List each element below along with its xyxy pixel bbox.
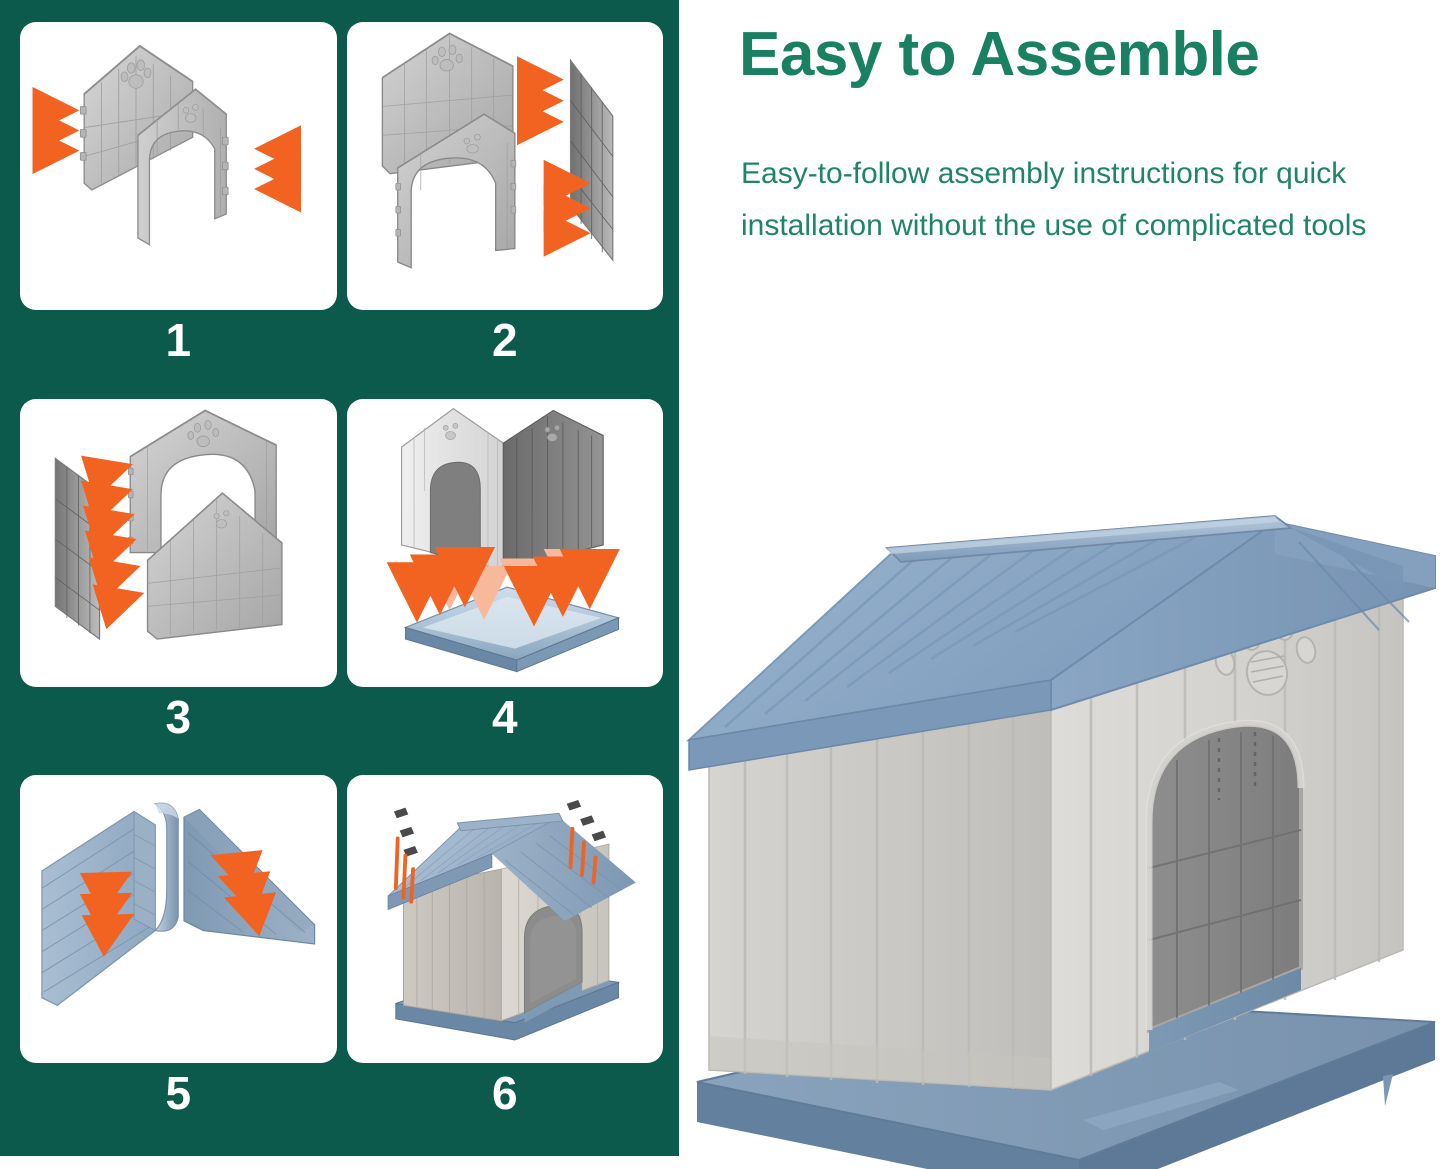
two-wall-panels-joining-icon <box>20 22 337 310</box>
arched-doorway <box>1149 723 1301 1052</box>
page-title: Easy to Assemble <box>739 22 1429 87</box>
step-image-card-4 <box>347 399 664 687</box>
step-cell-6: 6 <box>347 775 664 1148</box>
completed-doghouse-icon <box>347 775 664 1063</box>
walls-onto-base-icon <box>347 399 664 687</box>
step-cell-5: 5 <box>20 775 337 1148</box>
side-panel-attach-right-icon <box>347 22 664 310</box>
step-number-3: 3 <box>20 687 337 741</box>
step-image-card-6 <box>347 775 664 1063</box>
step-image-card-3 <box>20 399 337 687</box>
side-wall <box>709 702 1051 1090</box>
step-number-5: 5 <box>20 1063 337 1117</box>
roof-halves-ridge-icon <box>20 775 337 1063</box>
assembly-steps-panel: 1 <box>0 0 679 1156</box>
step-cell-1: 1 <box>20 22 337 395</box>
step-cell-4: 4 <box>347 399 664 772</box>
right-content-column: Easy to Assemble Easy-to-follow assembly… <box>679 0 1445 1169</box>
page-subtitle: Easy-to-follow assembly instructions for… <box>741 148 1421 251</box>
step-image-card-2 <box>347 22 664 310</box>
step-number-6: 6 <box>347 1063 664 1117</box>
step-number-1: 1 <box>20 310 337 364</box>
step-cell-2: 2 <box>347 22 664 395</box>
step-number-2: 2 <box>347 310 664 364</box>
step-image-card-5 <box>20 775 337 1063</box>
dog-house-product-photo <box>679 470 1445 1169</box>
step-image-card-1 <box>20 22 337 310</box>
infographic-page: 1 <box>0 0 1445 1169</box>
step-number-4: 4 <box>347 687 664 741</box>
side-panel-attach-left-icon <box>20 399 337 687</box>
step-cell-3: 3 <box>20 399 337 772</box>
